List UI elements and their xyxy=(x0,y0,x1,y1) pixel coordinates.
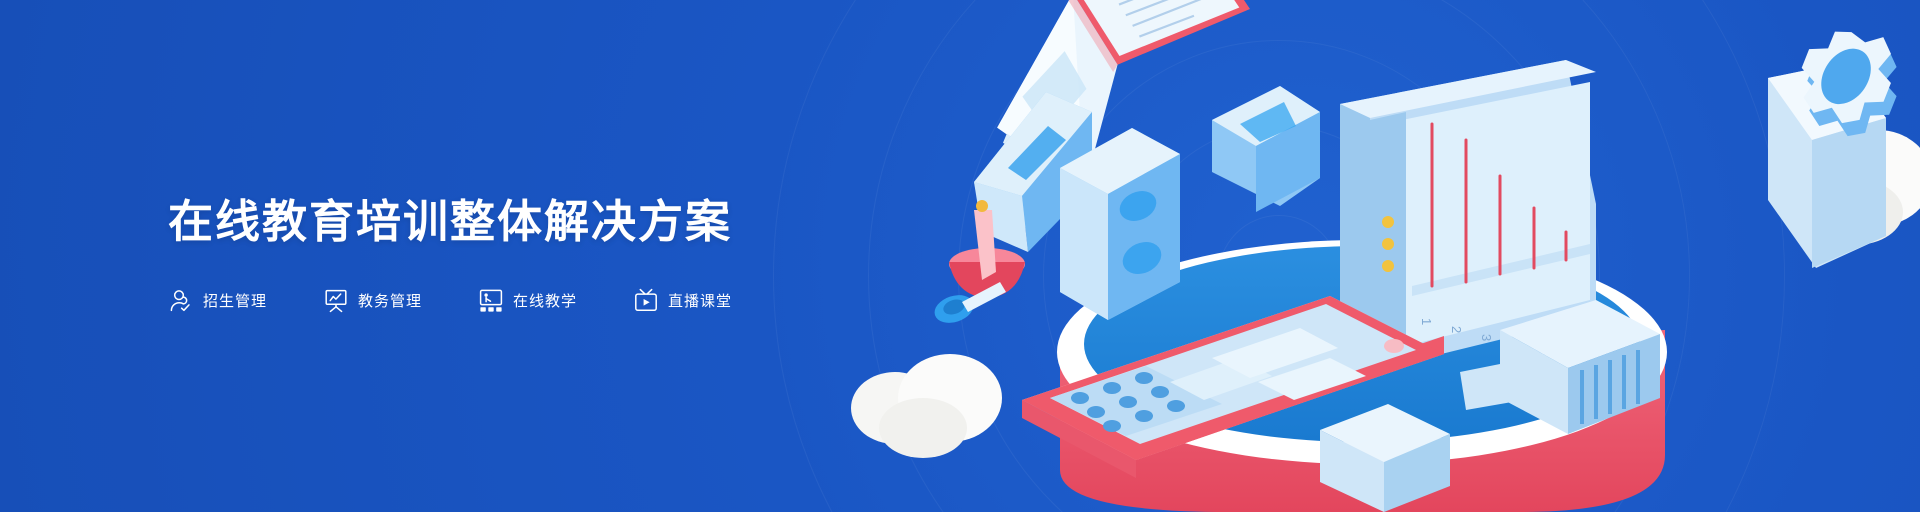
cloud-left xyxy=(851,354,1002,458)
feature-list: 招生管理 教务管理 xyxy=(168,288,732,314)
feature-item-enrollment[interactable]: 招生管理 xyxy=(168,288,267,314)
classroom-whiteboard-icon xyxy=(478,288,504,314)
education-banner: 1 2 3 4 5 6 xyxy=(0,0,1920,512)
tv-play-icon xyxy=(633,288,659,314)
svg-text:1: 1 xyxy=(1419,318,1434,325)
svg-text:3: 3 xyxy=(1479,334,1494,341)
feature-label: 直播课堂 xyxy=(668,290,732,311)
feature-label: 招生管理 xyxy=(203,290,267,311)
banner-copy: 在线教育培训整体解决方案 招生管理 xyxy=(168,0,732,512)
feature-label: 教务管理 xyxy=(358,290,422,311)
svg-text:2: 2 xyxy=(1449,326,1464,333)
page-title: 在线教育培训整体解决方案 xyxy=(168,199,732,244)
person-check-icon xyxy=(168,288,194,314)
easel-chart-icon xyxy=(323,288,349,314)
feature-label: 在线教学 xyxy=(513,290,577,311)
feature-item-academic-affairs[interactable]: 教务管理 xyxy=(323,288,422,314)
education-illustration: 1 2 3 4 5 6 xyxy=(760,0,1920,512)
feature-item-online-teaching[interactable]: 在线教学 xyxy=(478,288,577,314)
letter-c xyxy=(1212,86,1320,212)
feature-item-live-class[interactable]: 直播课堂 xyxy=(633,288,732,314)
